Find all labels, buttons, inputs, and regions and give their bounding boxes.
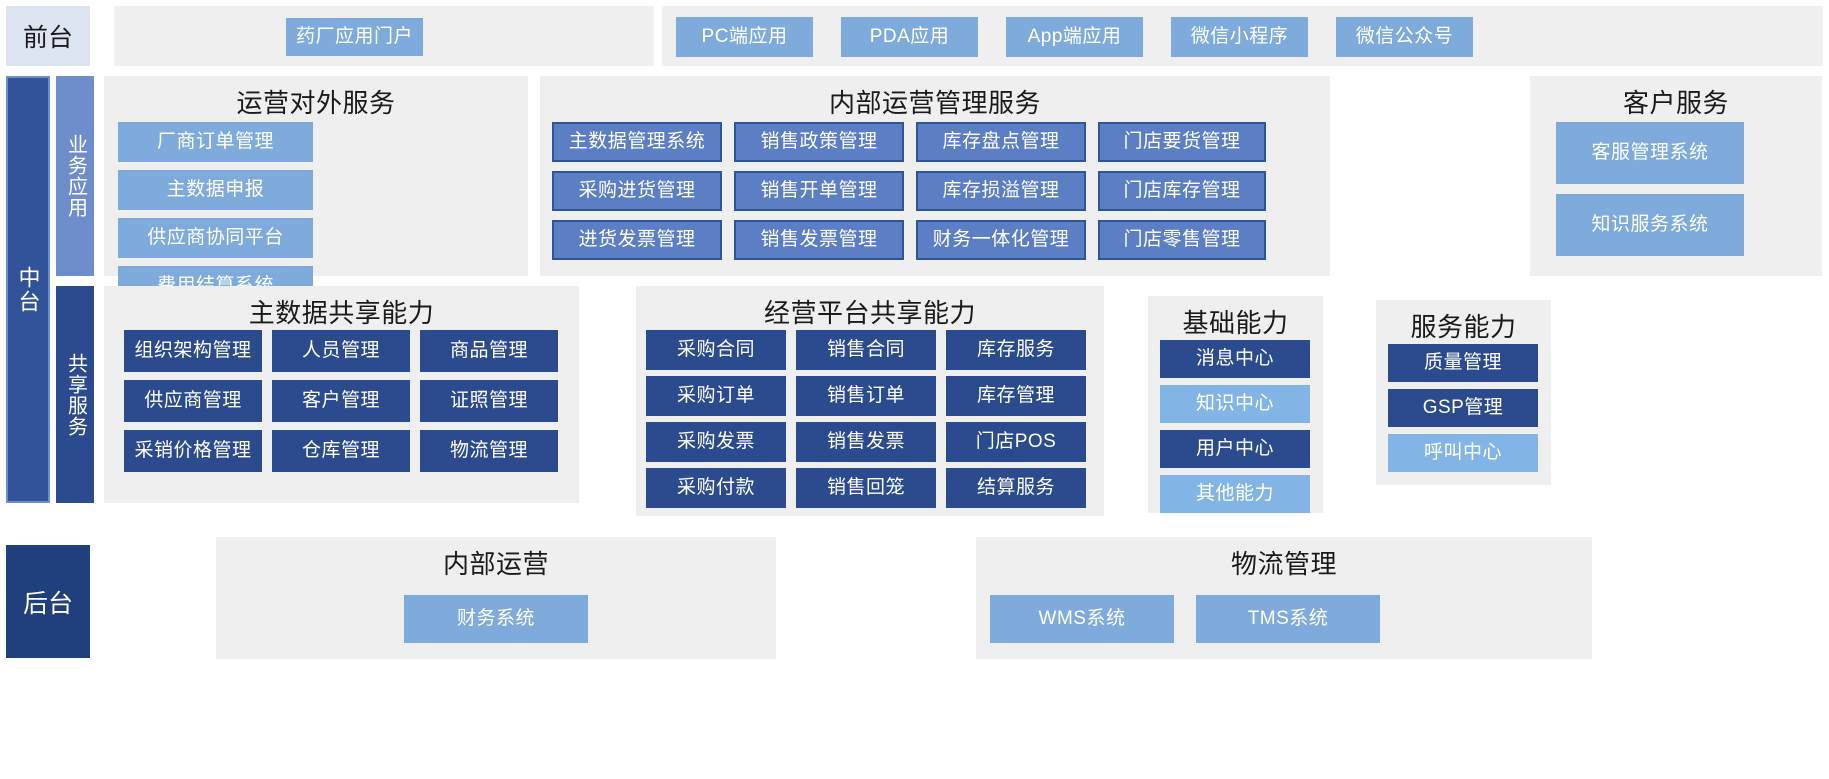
rail-label-shared-service: 共享服务 [56,286,94,503]
card-supplier-collaboration-platform[interactable]: 供应商协同平台 [118,218,313,258]
rail-label-front: 前台 [6,6,90,66]
base-capability-card-list: 消息中心 知识中心 用户中心 其他能力 [1148,340,1323,513]
rail-back-text: 后台 [23,584,73,620]
card-sales-contract[interactable]: 销售合同 [796,330,936,370]
customer-service-title: 客户服务 [1530,76,1822,116]
card-store-requisition-mgmt[interactable]: 门店要货管理 [1098,122,1266,162]
customer-service-card-list: 客服管理系统 知识服务系统 [1530,122,1822,256]
card-sales-policy-mgmt[interactable]: 销售政策管理 [734,122,904,162]
card-store-retail-mgmt[interactable]: 门店零售管理 [1098,220,1266,260]
card-finance-integration-mgmt[interactable]: 财务一体化管理 [916,220,1086,260]
card-customer-mgmt[interactable]: 客户管理 [272,380,410,422]
internal-operation-management-panel: 内部运营管理服务 主数据管理系统 销售政策管理 库存盘点管理 门店要货管理 采购… [540,76,1330,276]
internal-operation-management-title: 内部运营管理服务 [540,76,1330,116]
card-mobile-app[interactable]: App端应用 [1006,17,1143,57]
service-capability-card-list: 质量管理 GSP管理 呼叫中心 [1376,344,1551,472]
card-store-inventory-mgmt[interactable]: 门店库存管理 [1098,171,1266,211]
card-message-center[interactable]: 消息中心 [1160,340,1310,378]
card-call-center[interactable]: 呼叫中心 [1388,434,1538,472]
card-master-data-declaration[interactable]: 主数据申报 [118,170,313,210]
card-org-structure-mgmt[interactable]: 组织架构管理 [124,330,262,372]
card-purchase-invoice-mgmt[interactable]: 进货发票管理 [552,220,722,260]
external-operation-service-panel: 运营对外服务 厂商订单管理 主数据申报 供应商协同平台 费用结算系统 客户协同平… [104,76,528,276]
card-manufacturer-order-mgmt[interactable]: 厂商订单管理 [118,122,313,162]
master-data-shared-capability-panel: 主数据共享能力 组织架构管理 人员管理 商品管理 供应商管理 客户管理 证照管理… [104,286,579,503]
card-sales-invoice[interactable]: 销售发票 [796,422,936,462]
card-logistics-mgmt[interactable]: 物流管理 [420,430,558,472]
card-customer-service-mgmt-system[interactable]: 客服管理系统 [1556,122,1744,184]
rail-label-business-app: 业务应用 [56,76,94,276]
card-finance-system[interactable]: 财务系统 [404,595,588,643]
architecture-diagram: 前台 中台 业务应用 共享服务 后台 药厂应用门户 PC端应用 PDA应用 Ap… [0,0,1829,779]
card-purchase-invoice[interactable]: 采购发票 [646,422,786,462]
rail-business-app-text: 业务应用 [65,134,86,218]
card-product-mgmt[interactable]: 商品管理 [420,330,558,372]
logistics-management-panel: 物流管理 WMS系统 TMS系统 [976,537,1592,659]
channels-panel: PC端应用 PDA应用 App端应用 微信小程序 微信公众号 [662,6,1823,66]
card-purchase-contract[interactable]: 采购合同 [646,330,786,370]
card-pc-app[interactable]: PC端应用 [676,17,813,57]
logistics-management-title: 物流管理 [976,537,1592,577]
card-knowledge-center[interactable]: 知识中心 [1160,385,1310,423]
card-settlement-service[interactable]: 结算服务 [946,468,1086,508]
card-wms-system[interactable]: WMS系统 [990,595,1174,643]
rail-middle-text: 中台 [16,266,39,314]
operation-platform-card-list: 采购合同 销售合同 库存服务 采购订单 销售订单 库存管理 采购发票 销售发票 … [636,330,1104,508]
portal-panel: 药厂应用门户 [114,6,654,66]
customer-service-panel: 客户服务 客服管理系统 知识服务系统 [1530,76,1822,276]
rail-label-back: 后台 [6,545,90,658]
card-purchase-receiving-mgmt[interactable]: 采购进货管理 [552,171,722,211]
card-supplier-mgmt[interactable]: 供应商管理 [124,380,262,422]
service-capability-panel: 服务能力 质量管理 GSP管理 呼叫中心 [1376,300,1551,485]
channel-card-list: PC端应用 PDA应用 App端应用 微信小程序 微信公众号 [676,17,1473,57]
operation-platform-shared-capability-panel: 经营平台共享能力 采购合同 销售合同 库存服务 采购订单 销售订单 库存管理 采… [636,286,1104,516]
internal-operation-card-list: 主数据管理系统 销售政策管理 库存盘点管理 门店要货管理 采购进货管理 销售开单… [540,122,1330,260]
card-wechat-miniprogram[interactable]: 微信小程序 [1171,17,1308,57]
base-capability-title: 基础能力 [1148,296,1323,336]
card-gsp-mgmt[interactable]: GSP管理 [1388,389,1538,427]
card-personnel-mgmt[interactable]: 人员管理 [272,330,410,372]
logistics-card-list: WMS系统 TMS系统 [990,595,1380,643]
card-license-mgmt[interactable]: 证照管理 [420,380,558,422]
card-purchase-order[interactable]: 采购订单 [646,376,786,416]
card-purchase-sales-price-mgmt[interactable]: 采销价格管理 [124,430,262,472]
card-user-center[interactable]: 用户中心 [1160,430,1310,468]
master-data-card-list: 组织架构管理 人员管理 商品管理 供应商管理 客户管理 证照管理 采销价格管理 … [104,330,579,472]
card-inventory-service[interactable]: 库存服务 [946,330,1086,370]
operation-platform-shared-capability-title: 经营平台共享能力 [636,286,1104,326]
card-wechat-official-account[interactable]: 微信公众号 [1336,17,1473,57]
master-data-shared-capability-title: 主数据共享能力 [104,286,579,326]
card-sales-collection[interactable]: 销售回笼 [796,468,936,508]
card-pharma-portal[interactable]: 药厂应用门户 [286,18,423,56]
internal-operation-backoffice-title: 内部运营 [216,537,776,577]
card-warehouse-mgmt[interactable]: 仓库管理 [272,430,410,472]
service-capability-title: 服务能力 [1376,300,1551,340]
card-quality-mgmt[interactable]: 质量管理 [1388,344,1538,382]
card-inventory-gain-loss-mgmt[interactable]: 库存损溢管理 [916,171,1086,211]
card-purchase-payment[interactable]: 采购付款 [646,468,786,508]
card-pda-app[interactable]: PDA应用 [841,17,978,57]
card-inventory-mgmt[interactable]: 库存管理 [946,376,1086,416]
card-master-data-mgmt-system[interactable]: 主数据管理系统 [552,122,722,162]
internal-operation-backoffice-panel: 内部运营 财务系统 [216,537,776,659]
card-sales-invoice-mgmt[interactable]: 销售发票管理 [734,220,904,260]
card-tms-system[interactable]: TMS系统 [1196,595,1380,643]
card-other-capability[interactable]: 其他能力 [1160,475,1310,513]
base-capability-panel: 基础能力 消息中心 知识中心 用户中心 其他能力 [1148,296,1323,513]
external-operation-service-title: 运营对外服务 [104,76,528,116]
card-store-pos[interactable]: 门店POS [946,422,1086,462]
rail-shared-service-text: 共享服务 [65,353,86,437]
card-knowledge-service-system[interactable]: 知识服务系统 [1556,194,1744,256]
card-inventory-count-mgmt[interactable]: 库存盘点管理 [916,122,1086,162]
card-sales-billing-mgmt[interactable]: 销售开单管理 [734,171,904,211]
rail-label-middle-platform: 中台 [6,76,50,503]
rail-front-text: 前台 [23,18,73,54]
card-sales-order[interactable]: 销售订单 [796,376,936,416]
